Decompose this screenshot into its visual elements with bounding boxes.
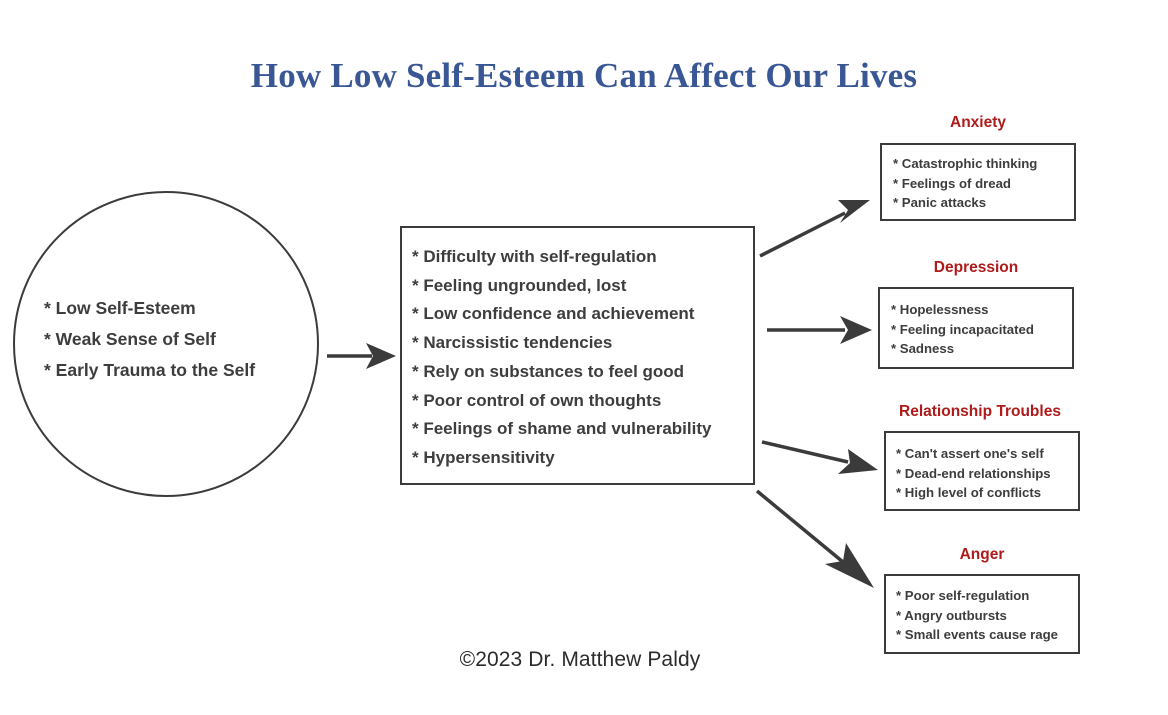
list-item: * Can't assert one's self [896, 444, 1051, 464]
list-item: * Early Trauma to the Self [44, 355, 304, 386]
outcome-title-relationship-troubles: Relationship Troubles [880, 403, 1080, 421]
relationship-troubles-box-list: * Can't assert one's self * Dead-end rel… [896, 444, 1051, 503]
list-item: * Rely on substances to feel good [412, 358, 752, 387]
list-item: * Low Self-Esteem [44, 293, 304, 324]
arrow-effects-to-anxiety [760, 200, 870, 256]
list-item: * Narcissistic tendencies [412, 329, 752, 358]
list-item: * Difficulty with self-regulation [412, 243, 752, 272]
source-circle-list: * Low Self-Esteem * Weak Sense of Self *… [44, 293, 304, 386]
copyright-text: ©2023 Dr. Matthew Paldy [460, 648, 701, 672]
list-item: * Low confidence and achievement [412, 300, 752, 329]
list-item: * Small events cause rage [896, 625, 1058, 645]
list-item: * Sadness [891, 339, 1034, 359]
anger-box-list: * Poor self-regulation * Angry outbursts… [896, 586, 1058, 645]
diagram-canvas: How Low Self-Esteem Can Affect Our Lives… [0, 0, 1168, 715]
list-item: * Feeling ungrounded, lost [412, 272, 752, 301]
list-item: * Hopelessness [891, 300, 1034, 320]
outcome-title-anger: Anger [884, 546, 1080, 564]
copyright-footer: ©2023 Dr. Matthew Paldy [0, 648, 1168, 672]
list-item: * Hypersensitivity [412, 444, 752, 473]
list-item: * Catastrophic thinking [893, 154, 1037, 174]
list-item: * Dead-end relationships [896, 464, 1051, 484]
list-item: * Feelings of dread [893, 174, 1037, 194]
list-item: * Feeling incapacitated [891, 320, 1034, 340]
arrow-effects-to-relationship [762, 442, 878, 474]
list-item: * Weak Sense of Self [44, 324, 304, 355]
list-item: * Poor control of own thoughts [412, 387, 752, 416]
list-item: * Angry outbursts [896, 606, 1058, 626]
effects-box-list: * Difficulty with self-regulation * Feel… [412, 243, 752, 473]
anxiety-box-list: * Catastrophic thinking * Feelings of dr… [893, 154, 1037, 213]
list-item: * Poor self-regulation [896, 586, 1058, 606]
list-item: * Panic attacks [893, 193, 1037, 213]
list-item: * High level of conflicts [896, 483, 1051, 503]
list-item: * Feelings of shame and vulnerability [412, 415, 752, 444]
arrow-source-to-effects [327, 343, 396, 369]
outcome-title-depression: Depression [878, 259, 1074, 277]
arrow-effects-to-depression [767, 316, 872, 344]
depression-box-list: * Hopelessness * Feeling incapacitated *… [891, 300, 1034, 359]
page-title: How Low Self-Esteem Can Affect Our Lives [0, 56, 1168, 96]
arrow-effects-to-anger [757, 491, 874, 588]
outcome-title-anxiety: Anxiety [880, 114, 1076, 132]
